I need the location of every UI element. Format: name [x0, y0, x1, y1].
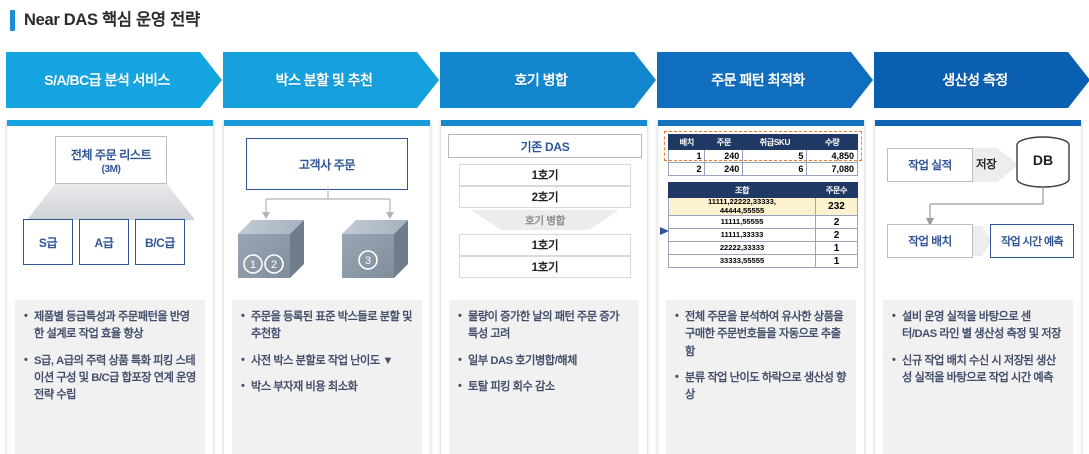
col-header-sku: 취급SKU: [743, 135, 807, 150]
unit-row-after-2: 1호기: [459, 256, 631, 278]
col-header-batch: 배치: [669, 135, 705, 150]
grade-box-a[interactable]: A급: [79, 219, 129, 265]
save-label: 저장: [976, 156, 996, 172]
chevron-label-2: 박스 분할 및 추천: [276, 70, 373, 90]
grade-box-s[interactable]: S급: [23, 219, 73, 265]
cell: 11111,33333: [669, 229, 816, 242]
cell: 11111,22222,33333,44444,55555: [669, 198, 816, 216]
fan-connector-icon: [27, 184, 195, 222]
note-item: 분류 작업 난이도 하락으로 생산성 향상: [675, 370, 847, 405]
card-body-1: 전체 주문 리스트 (3M) S급: [7, 126, 213, 298]
cell: 2: [816, 216, 858, 229]
page-title: Near DAS 핵심 운영 전략: [24, 10, 200, 31]
note-item: 박스 부자재 비용 최소화: [241, 379, 413, 396]
note-item: 주문을 등록된 표준 박스들로 분할 및 추천함: [241, 309, 413, 344]
box-cube-icon-left: 1 2: [238, 218, 316, 280]
note-item: 제품별 등급특성과 주문패턴을 반영한 설계로 작업 효율 향상: [24, 309, 196, 344]
box-cube-icon-right: 3: [342, 218, 420, 280]
cell: 2: [669, 163, 705, 176]
table-row: 11111,55555 2: [669, 216, 858, 229]
cell: 7,080: [807, 163, 858, 176]
col-header-order: 주문: [705, 135, 743, 150]
unit-row-before-2: 2호기: [459, 186, 631, 208]
chevron-label-5: 생산성 측정: [942, 70, 1007, 90]
note-item: 전체 주문을 분석하여 유사한 상품을 구매한 주문번호들을 자동으로 추출 함: [675, 309, 847, 361]
combination-table-element: 조합 주문수 11111,22222,33333,44444,55555 232: [668, 182, 858, 268]
card-notes-5: 설비 운영 실적을 바탕으로 센터/DAS 라인 별 생산성 측정 및 저장 신…: [883, 300, 1073, 454]
table-header-row: 조합 주문수: [669, 183, 858, 198]
card-3: 기존 DAS 1호기 2호기 호기 병합 1호기 1호기 물량이 증가한 날의 …: [440, 120, 648, 454]
batch-table-element: 배치 주문 취급SKU 수량 1 240 5: [668, 134, 858, 176]
table-row: 1 240 5 4,850: [669, 150, 858, 163]
cell: 240: [705, 150, 743, 163]
col-header-combination: 조합: [669, 183, 816, 198]
order-list-title: 전체 주문 리스트: [71, 146, 151, 163]
cell: 11111,55555: [669, 216, 816, 229]
merge-label: 호기 병합: [459, 210, 631, 230]
cell: 1: [669, 150, 705, 163]
cell: 33333,55555: [669, 255, 816, 268]
work-allocation-box: 작업 배치: [887, 224, 973, 258]
chevron-header-4[interactable]: 주문 패턴 최적화: [657, 52, 873, 108]
chevron-header-5[interactable]: 생산성 측정: [874, 52, 1089, 108]
table-row: 2 240 6 7,080: [669, 163, 858, 176]
notes-list-2: 주문을 등록된 표준 박스들로 분할 및 추천함 사전 박스 분할로 작업 난이…: [241, 309, 413, 396]
order-list-box: 전체 주문 리스트 (3M): [55, 136, 167, 184]
card-5: 작업 실적 저장 DB 작: [874, 120, 1082, 454]
order-list-sub: (3M): [102, 164, 121, 175]
note-item: S급, A급의 주력 상품 특화 피킹 스테이션 구성 및 B/C급 합포장 연…: [24, 353, 196, 405]
note-item: 토탈 피킹 회수 감소: [458, 379, 630, 396]
table-header-row: 배치 주문 취급SKU 수량: [669, 135, 858, 150]
cell: 240: [705, 163, 743, 176]
combination-table: 조합 주문수 11111,22222,33333,44444,55555 232: [668, 182, 858, 268]
process-columns: S/A/BC급 분석 서비스 전체 주문 리스트 (3M): [6, 52, 1083, 452]
cell: 22222,33333: [669, 242, 816, 255]
svg-text:2: 2: [271, 259, 277, 271]
card-notes-1: 제품별 등급특성과 주문패턴을 반영한 설계로 작업 효율 향상 S급, A급의…: [15, 300, 205, 454]
cell: 2: [816, 229, 858, 242]
unit-row-after-1: 1호기: [459, 234, 631, 256]
grade-boxes: S급 A급 B/C급: [23, 219, 185, 265]
cell: 1: [816, 255, 858, 268]
arrow-right-icon: [660, 226, 670, 236]
card-notes-3: 물량이 증가한 날의 패턴 주문 증가 특성 고려 일부 DAS 호기병합/해체…: [449, 300, 639, 454]
column-unit-merge: 호기 병합 기존 DAS 1호기 2호기 호기 병합 1호기 1호기: [440, 52, 648, 452]
col-header-order-count: 주문수: [816, 183, 858, 198]
table-row: 22222,33333 1: [669, 242, 858, 255]
chevron-header-2[interactable]: 박스 분할 및 추천: [223, 52, 439, 108]
column-sabc-analysis: S/A/BC급 분석 서비스 전체 주문 리스트 (3M): [6, 52, 214, 452]
card-notes-2: 주문을 등록된 표준 박스들로 분할 및 추천함 사전 박스 분할로 작업 난이…: [232, 300, 422, 454]
title-accent-bar: [10, 10, 15, 31]
batch-table: 배치 주문 취급SKU 수량 1 240 5: [668, 134, 858, 176]
notes-list-3: 물량이 증가한 날의 패턴 주문 증가 특성 고려 일부 DAS 호기병합/해체…: [458, 309, 630, 396]
card-4: 배치 주문 취급SKU 수량 1 240 5: [657, 120, 865, 454]
card-2: 고객사 주문: [223, 120, 431, 454]
work-time-prediction-box: 작업 시간 예측: [990, 224, 1074, 258]
db-label: DB: [1015, 152, 1071, 168]
chevron-label-1: S/A/BC급 분석 서비스: [44, 70, 170, 90]
card-notes-4: 전체 주문을 분석하여 유사한 상품을 구매한 주문번호들을 자동으로 추출 함…: [666, 300, 856, 454]
slide-root: Near DAS 핵심 운영 전략 S/A/BC급 분석 서비스 전체 주문 리…: [0, 0, 1089, 454]
note-item: 일부 DAS 호기병합/해체: [458, 353, 630, 370]
card-1: 전체 주문 리스트 (3M) S급: [6, 120, 214, 454]
cell: 6: [743, 163, 807, 176]
table-row: 33333,55555 1: [669, 255, 858, 268]
chevron-header-1[interactable]: S/A/BC급 분석 서비스: [6, 52, 222, 108]
svg-text:1: 1: [250, 259, 256, 271]
note-item: 물량이 증가한 날의 패턴 주문 증가 특성 고려: [458, 309, 630, 344]
notes-list-1: 제품별 등급특성과 주문패턴을 반영한 설계로 작업 효율 향상 S급, A급의…: [24, 309, 196, 405]
cell: 4,850: [807, 150, 858, 163]
customer-order-box: 고객사 주문: [246, 138, 408, 190]
customer-order-label: 고객사 주문: [299, 156, 355, 173]
existing-das-header: 기존 DAS: [448, 134, 642, 158]
split-connector-icon: [224, 188, 432, 220]
card-body-5: 작업 실적 저장 DB 작: [875, 126, 1081, 298]
unit-row-before-1: 1호기: [459, 164, 631, 186]
feedback-connector-icon: [875, 186, 1083, 228]
page-title-group: Near DAS 핵심 운영 전략: [10, 10, 200, 31]
notes-list-5: 설비 운영 실적을 바탕으로 센터/DAS 라인 별 생산성 측정 및 저장 신…: [892, 309, 1064, 387]
note-item: 설비 운영 실적을 바탕으로 센터/DAS 라인 별 생산성 측정 및 저장: [892, 309, 1064, 344]
card-body-3: 기존 DAS 1호기 2호기 호기 병합 1호기 1호기: [441, 126, 647, 298]
column-productivity: 생산성 측정 작업 실적 저장 DB: [874, 52, 1082, 452]
svg-text:3: 3: [365, 255, 371, 267]
card-body-4: 배치 주문 취급SKU 수량 1 240 5: [658, 126, 864, 298]
chevron-label-3: 호기 병합: [515, 70, 568, 90]
cell: 1: [816, 242, 858, 255]
card-body-2: 고객사 주문: [224, 126, 430, 298]
column-box-split: 박스 분할 및 추천 고객사 주문: [223, 52, 431, 452]
table-row: 11111,22222,33333,44444,55555 232: [669, 198, 858, 216]
notes-list-4: 전체 주문을 분석하여 유사한 상품을 구매한 주문번호들을 자동으로 추출 함…: [675, 309, 847, 405]
work-performance-box: 작업 실적: [887, 148, 973, 182]
column-order-pattern: 주문 패턴 최적화 배치 주문 취급SKU 수량: [657, 52, 865, 452]
table-row: 11111,33333 2: [669, 229, 858, 242]
chevron-label-4: 주문 패턴 최적화: [711, 70, 804, 90]
chevron-header-3[interactable]: 호기 병합: [440, 52, 656, 108]
cell: 232: [816, 198, 858, 216]
note-item: 사전 박스 분할로 작업 난이도 ▼: [241, 353, 413, 370]
note-item: 신규 작업 배치 수신 시 저장된 생산성 실적을 바탕으로 작업 시간 예측: [892, 353, 1064, 388]
grade-box-bc[interactable]: B/C급: [135, 219, 185, 265]
cell: 5: [743, 150, 807, 163]
col-header-qty: 수량: [807, 135, 858, 150]
